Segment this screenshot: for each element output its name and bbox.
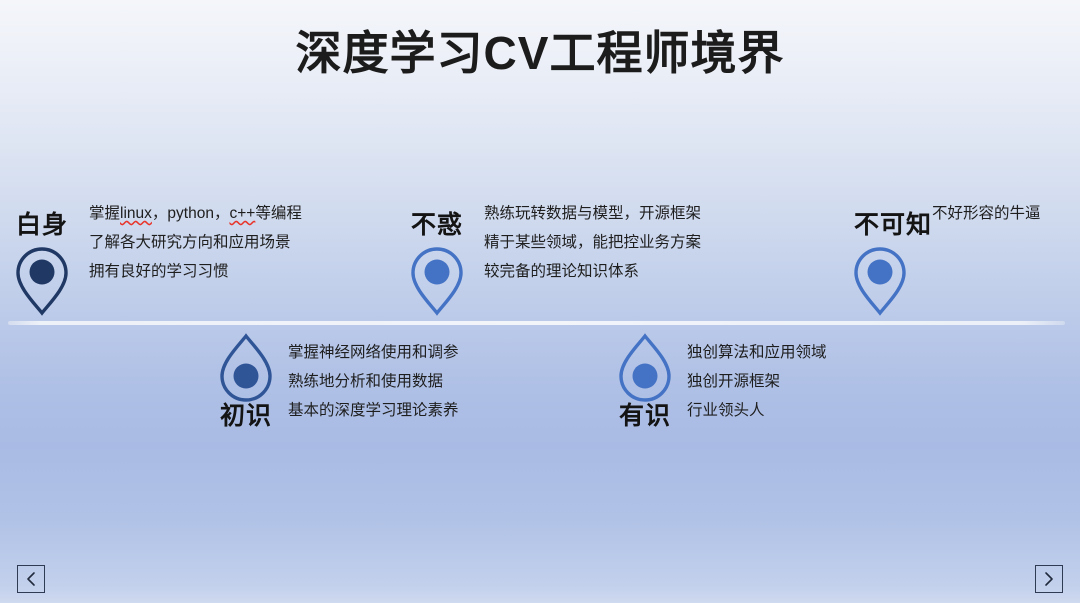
line-suffix: 等编程 bbox=[255, 205, 302, 222]
description-line: 独创开源框架 bbox=[687, 367, 827, 396]
milestone-description: 掌握linux，python，c++等编程 了解各大研究方向和应用场景 拥有良好… bbox=[89, 199, 302, 286]
slide-canvas: 深度学习CV工程师境界 白身 掌握linux，python，c++等编程 了解各… bbox=[0, 0, 1080, 603]
previous-slide-button[interactable] bbox=[17, 565, 45, 593]
description-line: 拥有良好的学习习惯 bbox=[89, 257, 302, 286]
teardrop-pin-icon bbox=[218, 332, 274, 404]
milestone-description: 熟练玩转数据与模型，开源框架 精于某些领域，能把控业务方案 较完备的理论知识体系 bbox=[484, 199, 701, 286]
milestone-label: 不惑 bbox=[411, 205, 463, 241]
milestone-description: 掌握神经网络使用和调参 熟练地分析和使用数据 基本的深度学习理论素养 bbox=[288, 338, 459, 425]
milestone-description: 不好形容的牛逼 bbox=[932, 199, 1041, 228]
misspelled-word-linux: linux bbox=[120, 205, 152, 222]
map-pin-icon bbox=[14, 245, 70, 317]
description-line: 独创算法和应用领域 bbox=[687, 338, 827, 367]
description-line: 熟练地分析和使用数据 bbox=[288, 367, 459, 396]
milestone-label: 不可知 bbox=[854, 205, 932, 241]
misspelled-word-cpp: c++ bbox=[229, 205, 255, 222]
description-line: 行业领头人 bbox=[687, 396, 827, 425]
timeline-axis bbox=[8, 321, 1065, 325]
milestone-label: 白身 bbox=[16, 205, 68, 241]
milestone-label: 有识 bbox=[619, 396, 671, 432]
chevron-right-icon bbox=[1043, 571, 1055, 587]
description-line: 掌握linux，python，c++等编程 bbox=[89, 199, 302, 228]
description-line: 基本的深度学习理论素养 bbox=[288, 396, 459, 425]
next-slide-button[interactable] bbox=[1035, 565, 1063, 593]
milestone-label: 初识 bbox=[220, 396, 272, 432]
chevron-left-icon bbox=[25, 571, 37, 587]
map-pin-icon bbox=[852, 245, 908, 317]
description-line: 精于某些领域，能把控业务方案 bbox=[484, 228, 701, 257]
line-mid: ，python， bbox=[152, 205, 230, 222]
description-line: 熟练玩转数据与模型，开源框架 bbox=[484, 199, 701, 228]
line-prefix: 掌握 bbox=[89, 205, 120, 222]
description-line: 掌握神经网络使用和调参 bbox=[288, 338, 459, 367]
description-line: 不好形容的牛逼 bbox=[932, 199, 1041, 228]
map-pin-icon bbox=[409, 245, 465, 317]
milestone-description: 独创算法和应用领域 独创开源框架 行业领头人 bbox=[687, 338, 827, 425]
description-line: 了解各大研究方向和应用场景 bbox=[89, 228, 302, 257]
description-line: 较完备的理论知识体系 bbox=[484, 257, 701, 286]
page-title: 深度学习CV工程师境界 bbox=[0, 26, 1080, 81]
teardrop-pin-icon bbox=[617, 332, 673, 404]
